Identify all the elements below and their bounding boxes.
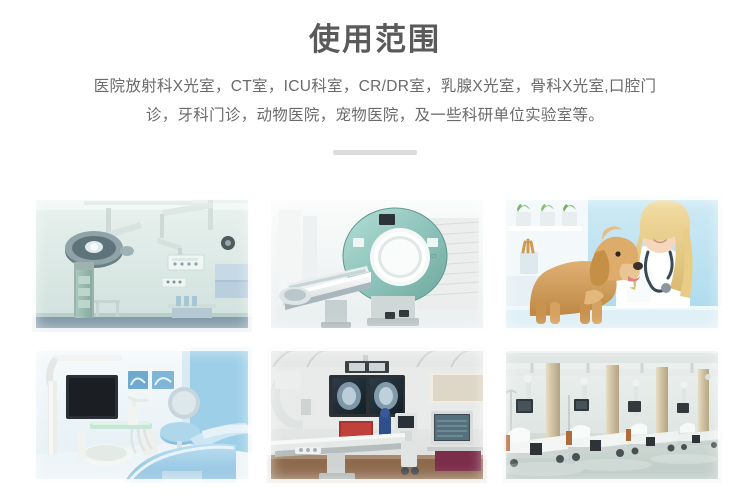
page-title: 使用范围 [0,22,750,58]
veterinary-clinic-illustration [502,196,722,332]
ct-scanner-photo: CT [267,196,487,332]
section-divider-bar [333,150,417,155]
ct-scanner-illustration: CT [267,196,487,332]
application-gallery: CT [32,196,722,483]
divider-wrapper [0,142,750,154]
icu-ward-photo [502,347,722,483]
marketing-page: 使用范围 医院放射科X光室，CT室，ICU科室，CR/DR室，乳腺X光室，骨科X… [0,0,750,503]
angiography-suite-illustration [267,347,487,483]
scope-description: 医院放射科X光室，CT室，ICU科室，CR/DR室，乳腺X光室，骨科X光室,口腔… [45,72,705,130]
dental-clinic-illustration [32,347,252,483]
icu-ward-illustration [502,347,722,483]
description-line-2: 诊，牙科门诊，动物医院，宠物医院，及一些科研单位实验室等。 [45,101,705,130]
description-line-1: 医院放射科X光室，CT室，ICU科室，CR/DR室，乳腺X光室，骨科X光室,口腔… [45,72,705,101]
veterinary-clinic-photo [502,196,722,332]
svg-text:CT: CT [430,254,437,260]
dental-clinic-photo [32,347,252,483]
header-section: 使用范围 医院放射科X光室，CT室，ICU科室，CR/DR室，乳腺X光室，骨科X… [0,0,750,154]
operating-room-photo [32,196,252,332]
operating-room-illustration [32,196,252,332]
angiography-suite-photo [267,347,487,483]
